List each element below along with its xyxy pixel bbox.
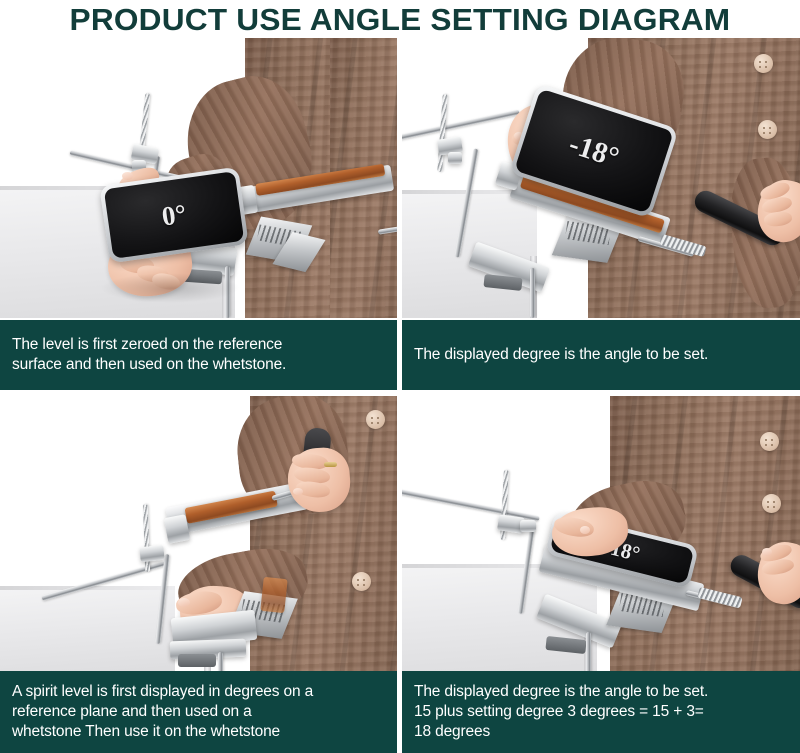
pivot-collar [139, 545, 164, 562]
page-header: PRODUCT USE ANGLE SETTING DIAGRAM [0, 0, 800, 38]
work-table [0, 586, 175, 677]
panel-2-caption: The displayed degree is the angle to be … [402, 320, 800, 390]
table-shadow [100, 273, 240, 303]
sweater-button-1 [366, 410, 385, 429]
sweater-button-2 [352, 572, 371, 591]
fingernail [762, 548, 772, 556]
panel-1-photo: 0° [0, 38, 397, 318]
phone-screen: 0° [104, 171, 244, 259]
panel-step-2: -18° The displayed degree is the angle t… [397, 38, 800, 390]
caption-line: 18 degrees [414, 722, 790, 742]
panel-4-caption: The displayed degree is the angle to be … [402, 671, 800, 753]
panel-3-caption: A spirit level is first displayed in deg… [0, 671, 397, 753]
page-title: PRODUCT USE ANGLE SETTING DIAGRAM [70, 4, 731, 35]
sweater-button-1 [760, 432, 779, 451]
fingernail [293, 488, 303, 495]
sweater-button-2 [758, 120, 777, 139]
angle-reading: -18° [565, 128, 623, 175]
panel-4-photo: -18° [402, 396, 800, 677]
panel-1-caption: The level is first zeroed on the referen… [0, 320, 397, 390]
pivot-knob [448, 152, 462, 164]
caption-line: surface and then used on the whetstone. [12, 355, 387, 375]
angle-reading: 0° [160, 198, 188, 232]
clamp-screw [530, 268, 535, 318]
guide-rod [402, 109, 520, 141]
caption-line: A spirit level is first displayed in deg… [12, 682, 387, 702]
panel-2-photo: -18° [402, 38, 800, 318]
panel-step-4: -18° The displayed degree is the angle t… [397, 390, 800, 753]
caption-line: The displayed degree is the angle to be … [414, 345, 790, 365]
wood-block [260, 577, 287, 613]
panel-step-1: 0° The level is first zeroed on the refe… [0, 38, 397, 390]
caption-line: 15 plus setting degree 3 degrees = 15 + … [414, 702, 790, 722]
finger-ring [324, 462, 337, 467]
caption-line: reference plane and then used on a [12, 702, 387, 722]
fingernail-left [580, 526, 590, 534]
panel-3-photo [0, 396, 397, 677]
work-table [402, 190, 537, 318]
caption-line: whetstone Then use it on the whetstone [12, 722, 387, 742]
caption-line: The level is first zeroed on the referen… [12, 335, 387, 355]
sweater-button-2 [762, 494, 781, 513]
fingernail-lower [178, 598, 190, 607]
panel-grid: 0° The level is first zeroed on the refe… [0, 38, 800, 753]
panel-step-3: A spirit level is first displayed in deg… [0, 390, 397, 753]
strop-collar [164, 514, 191, 544]
fingernail [122, 172, 133, 180]
threaded-post [437, 94, 447, 172]
caption-line: The displayed degree is the angle to be … [414, 682, 790, 702]
sweater-button-1 [754, 54, 773, 73]
clamp-pad [178, 654, 216, 667]
pivot-knob [520, 520, 536, 532]
